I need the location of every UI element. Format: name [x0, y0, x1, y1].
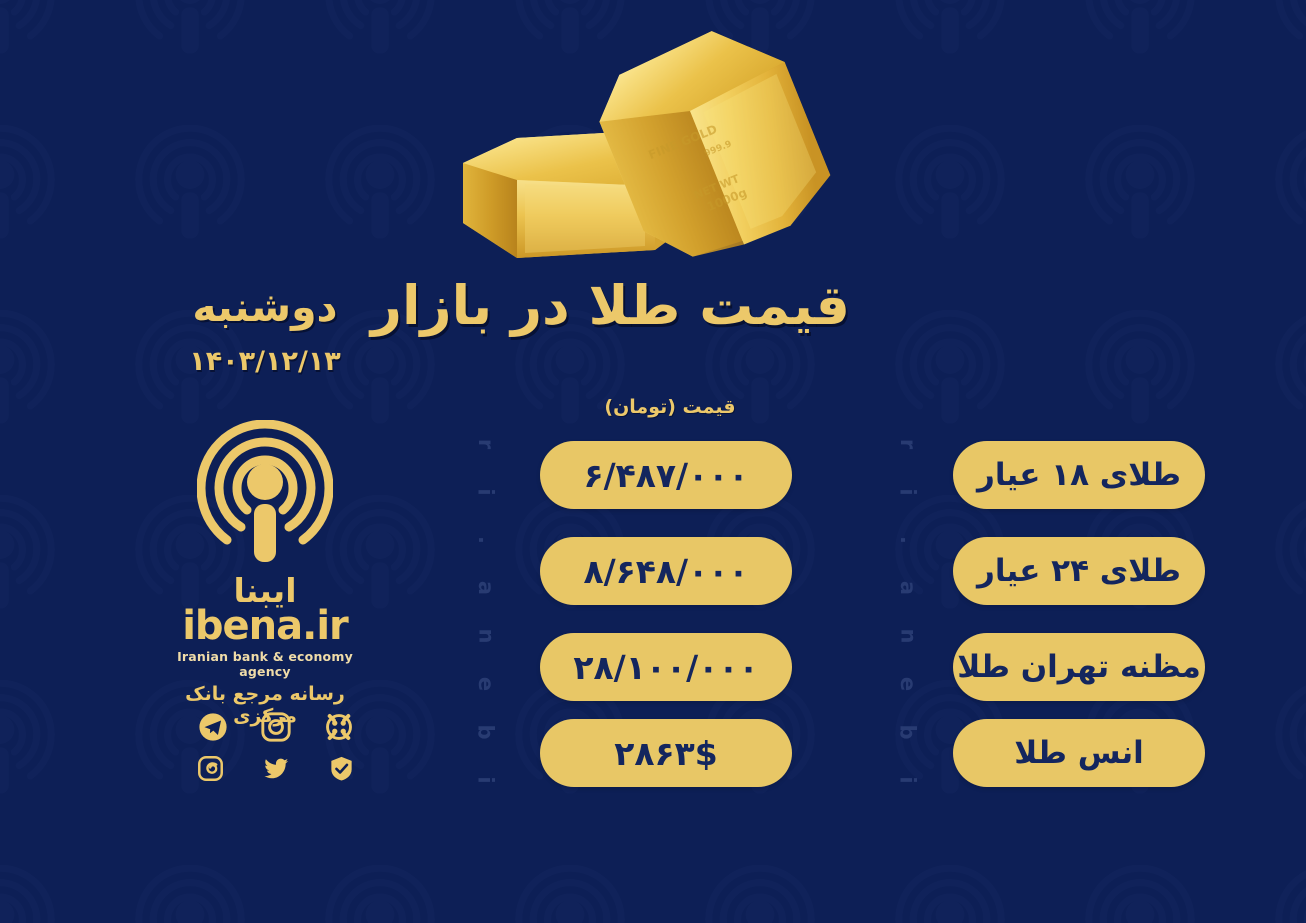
- gold-bars-illustration: FINE GOLD 999.9 NET WT 1000g: [455, 10, 925, 290]
- watermark-logo-icon: [1270, 125, 1306, 245]
- weekday-label: دوشنبه: [150, 285, 380, 330]
- table-row: ۲۸۶۳$انس طلا: [0, 719, 1306, 787]
- watermark-logo-icon: [0, 310, 60, 430]
- watermark-logo-icon: [130, 0, 250, 60]
- label-pill-1[interactable]: طلای ۲۴ عیار: [953, 537, 1205, 605]
- label-pill-2[interactable]: مظنه تهران طلا: [953, 633, 1205, 701]
- watermark-logo-icon: [1080, 310, 1200, 430]
- watermark-logo-icon: [890, 310, 1010, 430]
- table-row: ۲۸/۱۰۰/۰۰۰مظنه تهران طلا: [0, 633, 1306, 701]
- label-pill-0[interactable]: طلای ۱۸ عیار: [953, 441, 1205, 509]
- date-value: ۱۴۰۳/۱۲/۱۳: [150, 346, 380, 377]
- price-pill-0[interactable]: ۶/۴۸۷/۰۰۰: [540, 441, 792, 509]
- watermark-logo-icon: [320, 0, 440, 60]
- watermark-logo-icon: [130, 125, 250, 245]
- price-pill-1[interactable]: ۸/۶۴۸/۰۰۰: [540, 537, 792, 605]
- watermark-logo-icon: [0, 0, 60, 60]
- watermark-logo-icon: [320, 865, 440, 923]
- price-column-header: قیمت (تومان): [545, 396, 795, 418]
- table-row: ۸/۶۴۸/۰۰۰طلای ۲۴ عیار: [0, 537, 1306, 605]
- watermark-logo-icon: [1270, 310, 1306, 430]
- table-row: ۶/۴۸۷/۰۰۰طلای ۱۸ عیار: [0, 441, 1306, 509]
- watermark-logo-icon: [320, 125, 440, 245]
- page-title: قیمت طلا در بازار: [450, 278, 850, 335]
- watermark-logo-icon: [1270, 0, 1306, 60]
- price-pill-2[interactable]: ۲۸/۱۰۰/۰۰۰: [540, 633, 792, 701]
- gold-price-infographic: FINE GOLD 999.9 NET WT 1000g قیمت طلا در…: [0, 0, 1306, 923]
- price-pill-3[interactable]: ۲۸۶۳$: [540, 719, 792, 787]
- watermark-logo-icon: [700, 865, 820, 923]
- watermark-logo-icon: [890, 865, 1010, 923]
- watermark-logo-icon: [510, 865, 630, 923]
- watermark-logo-icon: [1080, 0, 1200, 60]
- watermark-logo-icon: [0, 865, 60, 923]
- watermark-logo-icon: [1080, 125, 1200, 245]
- watermark-logo-icon: [130, 865, 250, 923]
- watermark-logo-icon: [1080, 865, 1200, 923]
- watermark-logo-icon: [0, 125, 60, 245]
- date-block: دوشنبه ۱۴۰۳/۱۲/۱۳: [150, 285, 380, 377]
- label-pill-3[interactable]: انس طلا: [953, 719, 1205, 787]
- watermark-logo-icon: [1270, 865, 1306, 923]
